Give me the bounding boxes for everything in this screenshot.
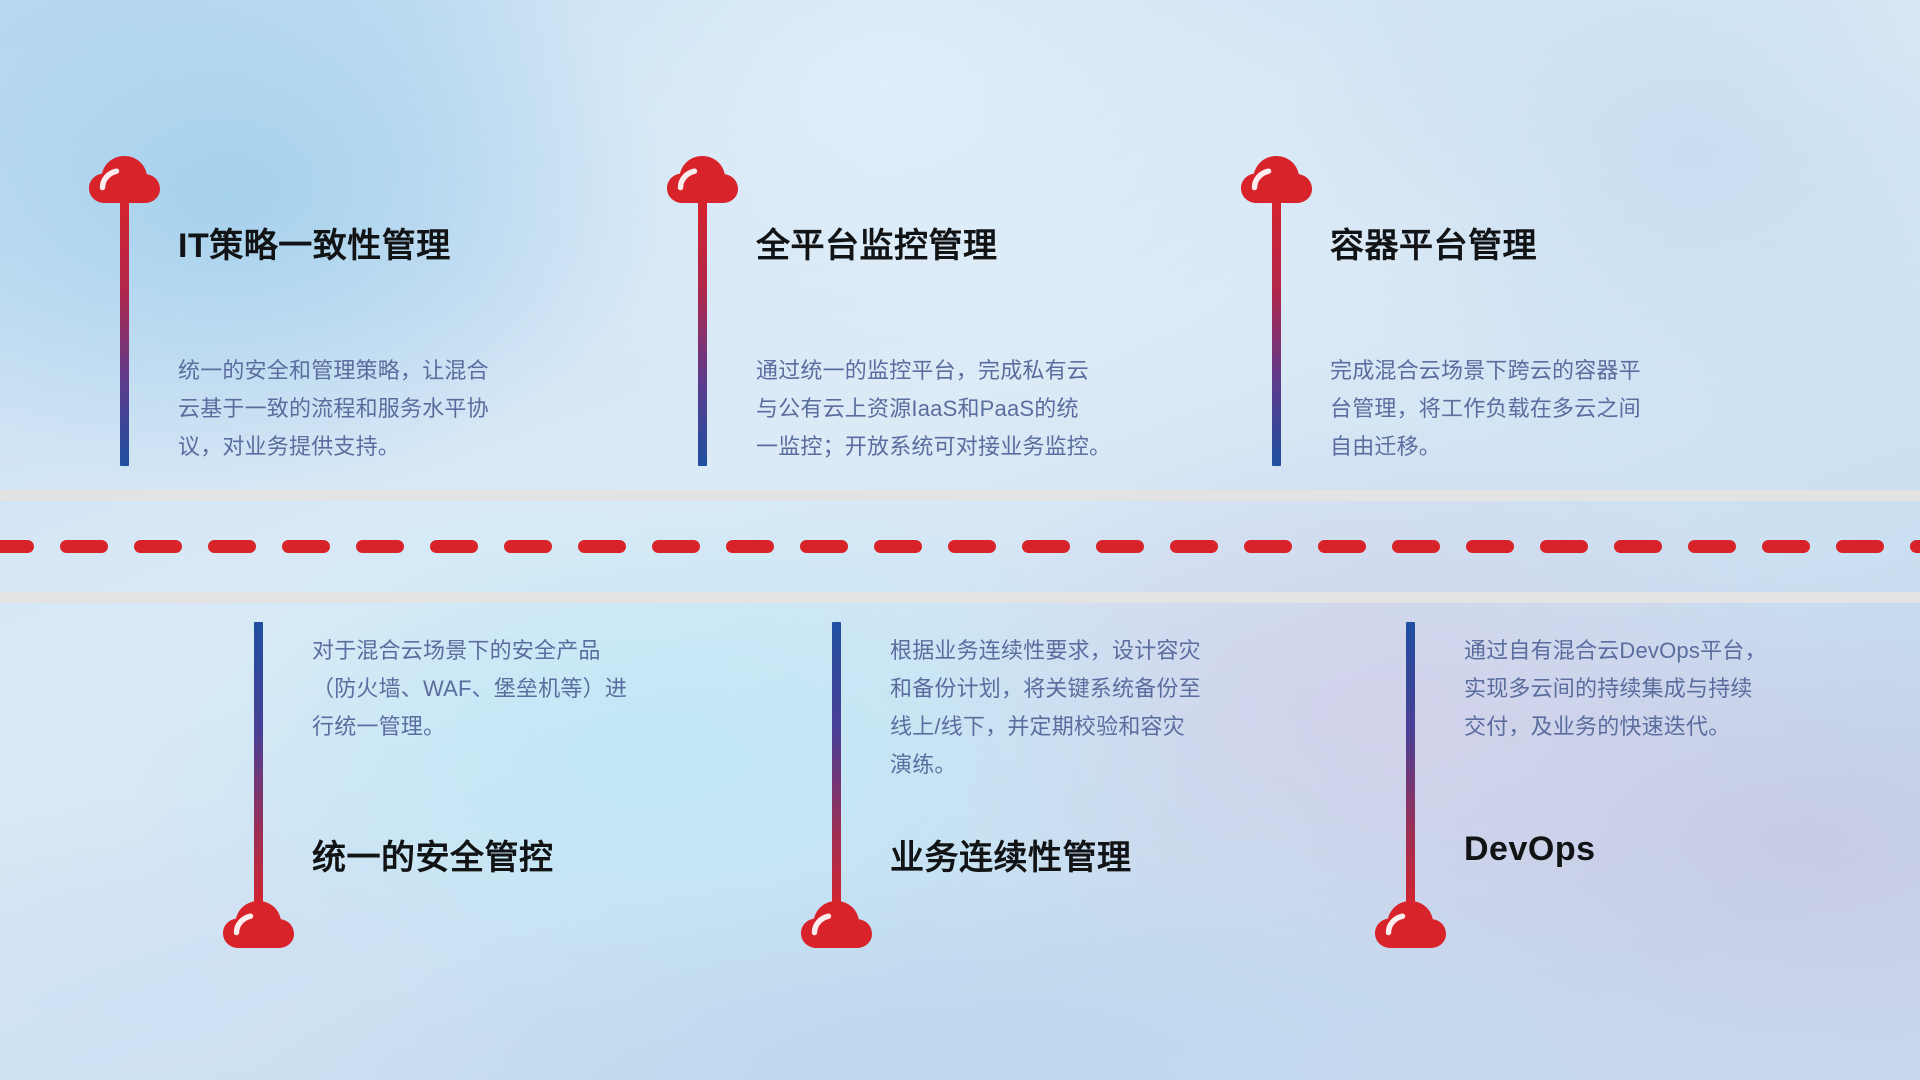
body-line: （防火墙、WAF、堡垒机等）进 (312, 670, 627, 708)
body-line: 统一的安全和管理策略，让混合 (178, 352, 489, 390)
card-body: 统一的安全和管理策略，让混合 云基于一致的流程和服务水平协 议，对业务提供支持。 (178, 352, 489, 466)
dash-segment (652, 540, 700, 553)
dash-segment (356, 540, 404, 553)
connector-stem (1406, 622, 1415, 912)
body-line: 演练。 (890, 746, 1201, 784)
body-line: 线上/线下，并定期校验和容灾 (890, 708, 1201, 746)
body-line: 自由迁移。 (1330, 428, 1641, 466)
infographic-canvas: IT策略一致性管理 统一的安全和管理策略，让混合 云基于一致的流程和服务水平协 … (0, 0, 1920, 1080)
dash-segment (282, 540, 330, 553)
dash-segment (1170, 540, 1218, 553)
card-body: 对于混合云场景下的安全产品 （防火墙、WAF、堡垒机等）进 行统一管理。 (312, 632, 627, 746)
cloud-pin-icon (222, 900, 296, 950)
dash-segment (430, 540, 478, 553)
cloud-pin-icon (800, 900, 874, 950)
dash-segment (1910, 540, 1920, 553)
body-line: 台管理，将工作负载在多云之间 (1330, 390, 1641, 428)
body-line: 云基于一致的流程和服务水平协 (178, 390, 489, 428)
dash-segment (1614, 540, 1662, 553)
body-line: 一监控；开放系统可对接业务监控。 (756, 428, 1111, 466)
dash-segment (1540, 540, 1588, 553)
dash-segment (1688, 540, 1736, 553)
body-line: 通过统一的监控平台，完成私有云 (756, 352, 1111, 390)
connector-stem (832, 622, 841, 912)
dash-segment (1244, 540, 1292, 553)
card-title: 统一的安全管控 (312, 830, 554, 879)
card-title: 容器平台管理 (1330, 218, 1537, 267)
dash-segment (208, 540, 256, 553)
body-line: 对于混合云场景下的安全产品 (312, 632, 627, 670)
connector-stem (254, 622, 263, 912)
dash-segment (578, 540, 626, 553)
dash-segment (1392, 540, 1440, 553)
dash-segment (948, 540, 996, 553)
connector-stem (698, 196, 707, 466)
dash-segment (134, 540, 182, 553)
connector-stem (1272, 196, 1281, 466)
body-line: 实现多云间的持续集成与持续 (1464, 670, 1767, 708)
body-line: 和备份计划，将关键系统备份至 (890, 670, 1201, 708)
body-line: 与公有云上资源IaaS和PaaS的统 (756, 390, 1111, 428)
cloud-pin-icon (1374, 900, 1448, 950)
dash-segment (874, 540, 922, 553)
body-line: 完成混合云场景下跨云的容器平 (1330, 352, 1641, 390)
card-title: DevOps (1464, 830, 1596, 869)
dash-segment (1318, 540, 1366, 553)
body-line: 通过自有混合云DevOps平台， (1464, 632, 1767, 670)
connector-stem (120, 196, 129, 466)
dash-segment (0, 540, 34, 553)
body-line: 议，对业务提供支持。 (178, 428, 489, 466)
dash-segment (800, 540, 848, 553)
body-line: 行统一管理。 (312, 708, 627, 746)
dash-segment (1466, 540, 1514, 553)
dash-segment (1022, 540, 1070, 553)
card-title: 业务连续性管理 (890, 830, 1132, 879)
dash-segment (60, 540, 108, 553)
dash-segment (504, 540, 552, 553)
rule-bar-bottom (0, 592, 1920, 603)
card-body: 通过统一的监控平台，完成私有云 与公有云上资源IaaS和PaaS的统 一监控；开… (756, 352, 1111, 466)
dashed-separator-line (0, 540, 1920, 553)
dash-segment (1762, 540, 1810, 553)
body-line: 交付，及业务的快速迭代。 (1464, 708, 1767, 746)
dash-segment (1836, 540, 1884, 553)
card-body: 根据业务连续性要求，设计容灾 和备份计划，将关键系统备份至 线上/线下，并定期校… (890, 632, 1201, 784)
dash-segment (726, 540, 774, 553)
body-line: 根据业务连续性要求，设计容灾 (890, 632, 1201, 670)
rule-bar-top (0, 490, 1920, 501)
card-body: 通过自有混合云DevOps平台， 实现多云间的持续集成与持续 交付，及业务的快速… (1464, 632, 1767, 746)
card-title: 全平台监控管理 (756, 218, 998, 267)
card-title: IT策略一致性管理 (178, 218, 451, 267)
card-body: 完成混合云场景下跨云的容器平 台管理，将工作负载在多云之间 自由迁移。 (1330, 352, 1641, 466)
dash-segment (1096, 540, 1144, 553)
